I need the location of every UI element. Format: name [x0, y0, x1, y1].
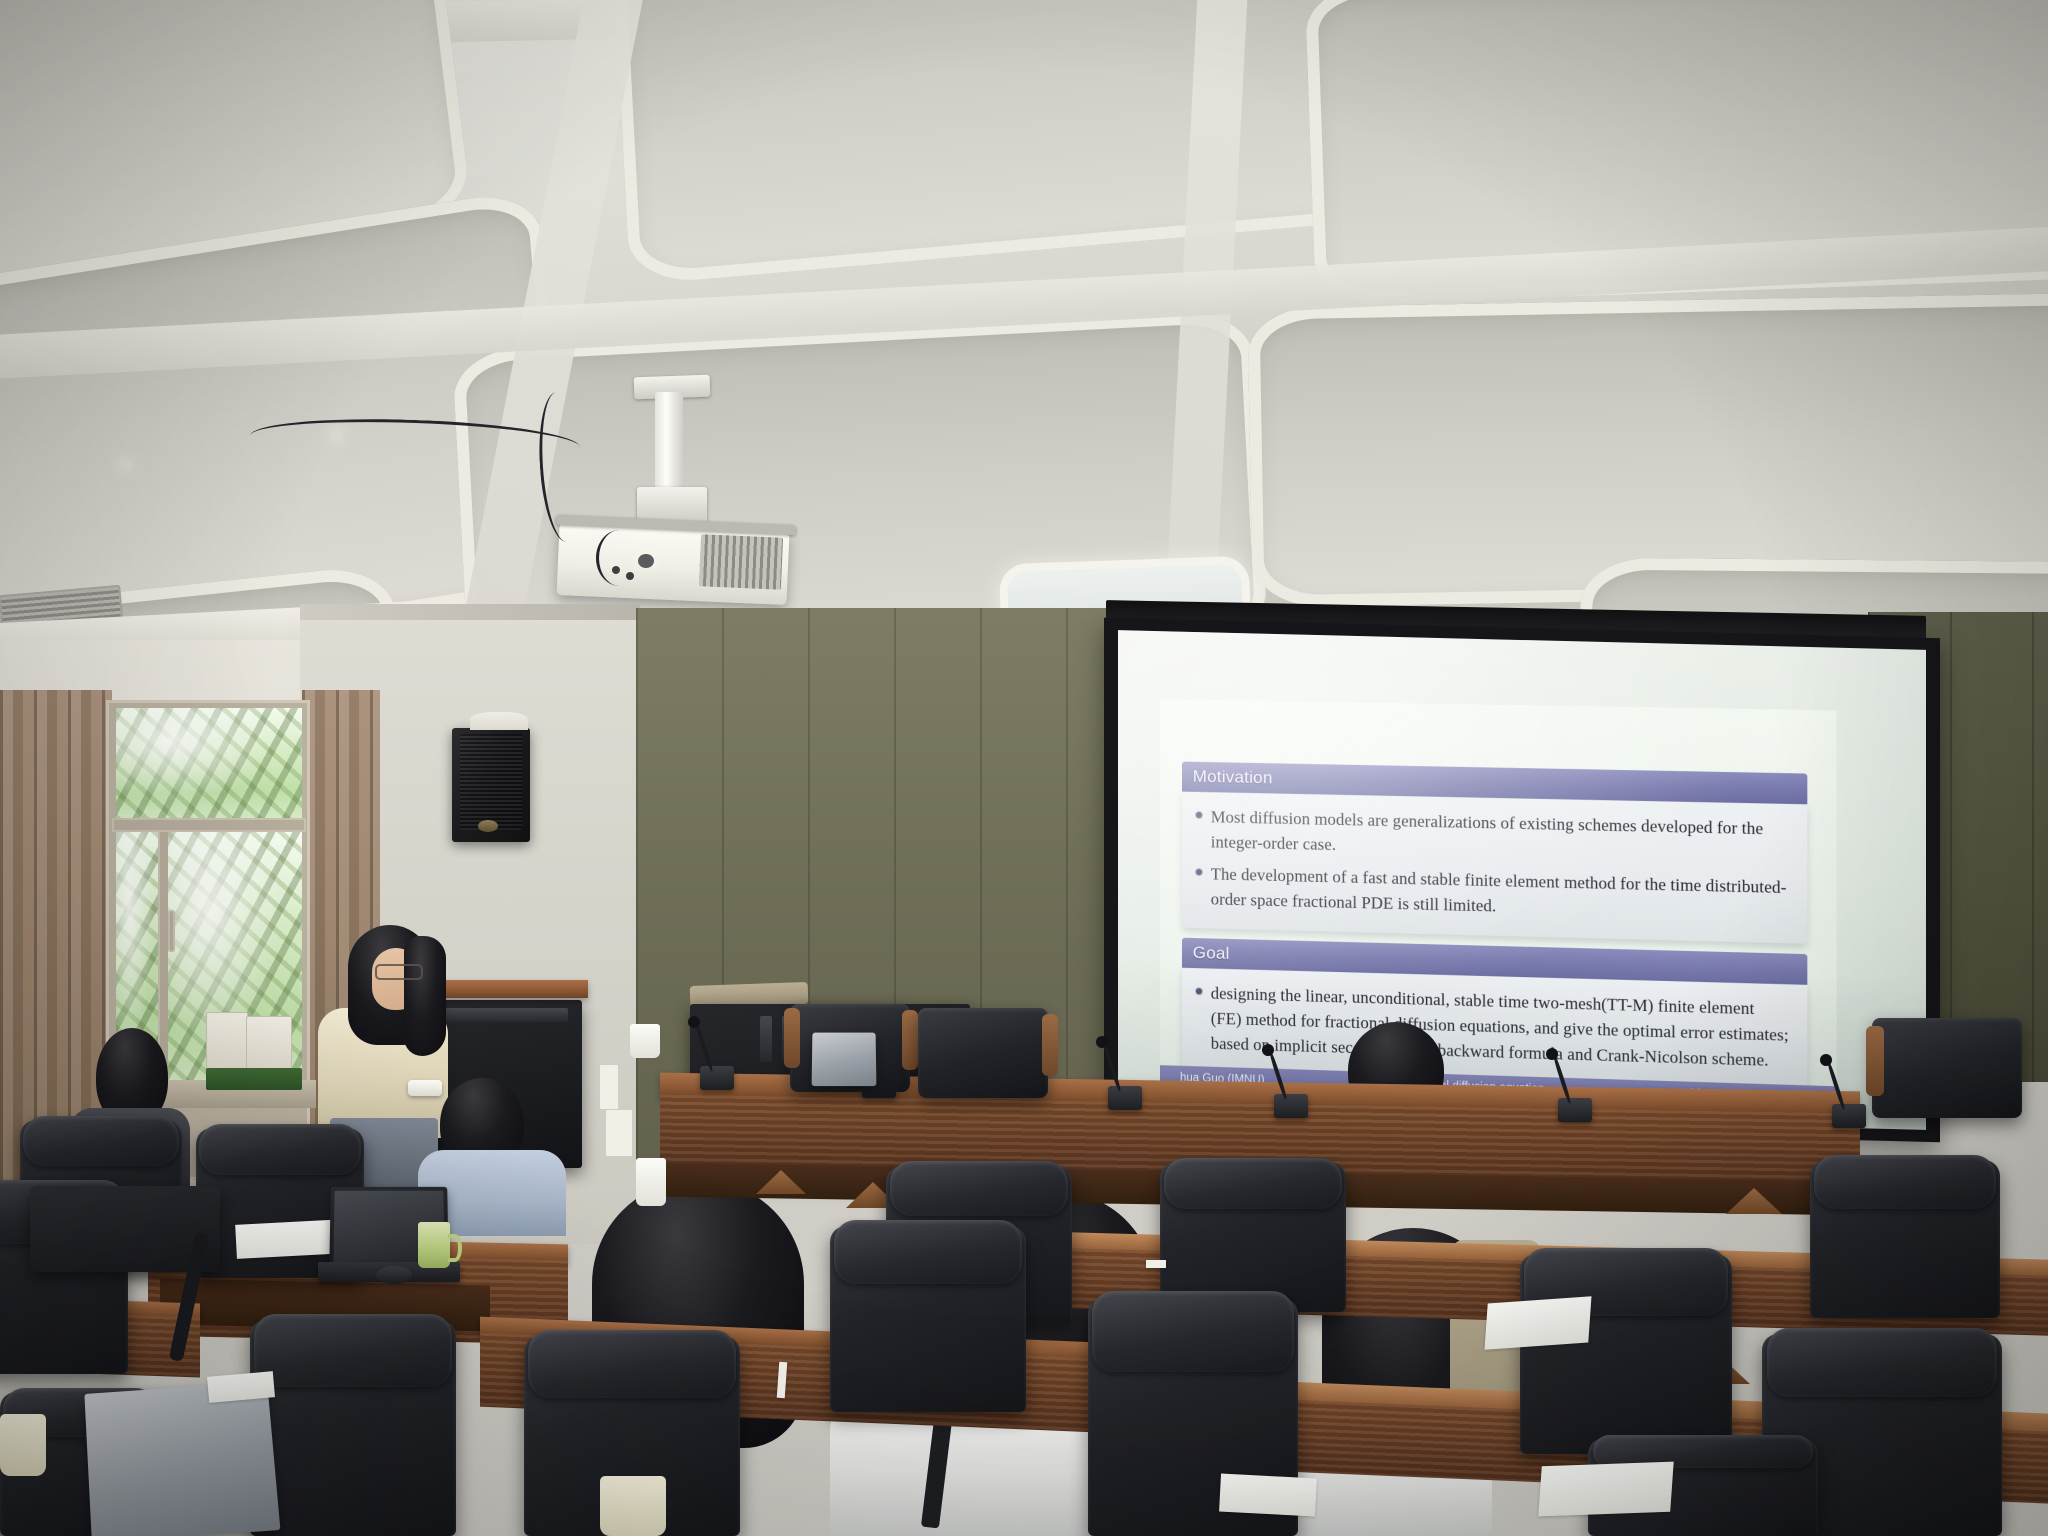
bullet-dot-icon: [1196, 812, 1202, 818]
handout-papers: [1485, 1296, 1592, 1350]
chair[interactable]: [1810, 1160, 2000, 1318]
laptop-foreground[interactable]: [84, 1381, 280, 1536]
mug-handle: [448, 1234, 462, 1262]
wall-speaker: [452, 728, 530, 842]
coffered-ceiling: [0, 0, 2048, 640]
cable-clip: [330, 430, 342, 440]
window-handle[interactable]: [168, 910, 175, 952]
bullet-text: Most diffusion models are generalization…: [1211, 804, 1791, 867]
green-tray: [206, 1068, 302, 1090]
bullet-item: Most diffusion models are generalization…: [1196, 804, 1791, 868]
rack-label: [600, 1065, 618, 1109]
chair[interactable]: [1520, 1254, 1732, 1454]
chair[interactable]: [830, 1226, 1026, 1412]
projector-lens: [638, 554, 654, 568]
bullet-item: The development of a fast and stable fin…: [1196, 861, 1791, 926]
projector-indicator: [626, 572, 634, 580]
presenter-hair-right: [404, 936, 446, 1056]
bullet-text: designing the linear, unconditional, sta…: [1211, 981, 1791, 1074]
green-mug[interactable]: [418, 1222, 450, 1268]
executive-chair[interactable]: [918, 1008, 1048, 1098]
paper-cup[interactable]: [636, 1158, 666, 1206]
bullet-text: The development of a fast and stable fin…: [1211, 861, 1791, 926]
computer-mouse[interactable]: [376, 1266, 412, 1284]
projection-screen: Motivation Most diffusion models are gen…: [1118, 630, 1926, 1130]
storage-box: [246, 1016, 292, 1076]
bullet-dot-icon: [1196, 869, 1202, 875]
paper-cup[interactable]: [0, 1414, 46, 1476]
bullet-item: designing the linear, unconditional, sta…: [1196, 980, 1791, 1074]
presenter-remote[interactable]: [408, 1080, 442, 1096]
paper-cup[interactable]: [600, 1476, 666, 1536]
handout-papers: [1538, 1462, 1673, 1517]
bullet-dot-icon: [1196, 988, 1202, 994]
white-cup[interactable]: [630, 1024, 660, 1058]
projector-indicator: [612, 566, 620, 574]
storage-box: [206, 1012, 248, 1076]
chair[interactable]: [1160, 1162, 1346, 1312]
presenter-glasses-icon: [375, 964, 423, 980]
chair[interactable]: [250, 1320, 456, 1536]
rack-label: [606, 1110, 632, 1156]
slide-block-motivation: Motivation Most diffusion models are gen…: [1182, 762, 1808, 945]
handout-papers: [1219, 1474, 1317, 1517]
window-glass-upper: [116, 708, 302, 820]
cable-clip: [120, 460, 132, 470]
laptop-front[interactable]: [812, 1033, 877, 1086]
pen[interactable]: [1146, 1260, 1166, 1268]
executive-chair[interactable]: [1872, 1018, 2022, 1118]
conference-room-photo: Motivation Most diffusion models are gen…: [0, 0, 2048, 1536]
speaker-mount: [470, 712, 528, 730]
